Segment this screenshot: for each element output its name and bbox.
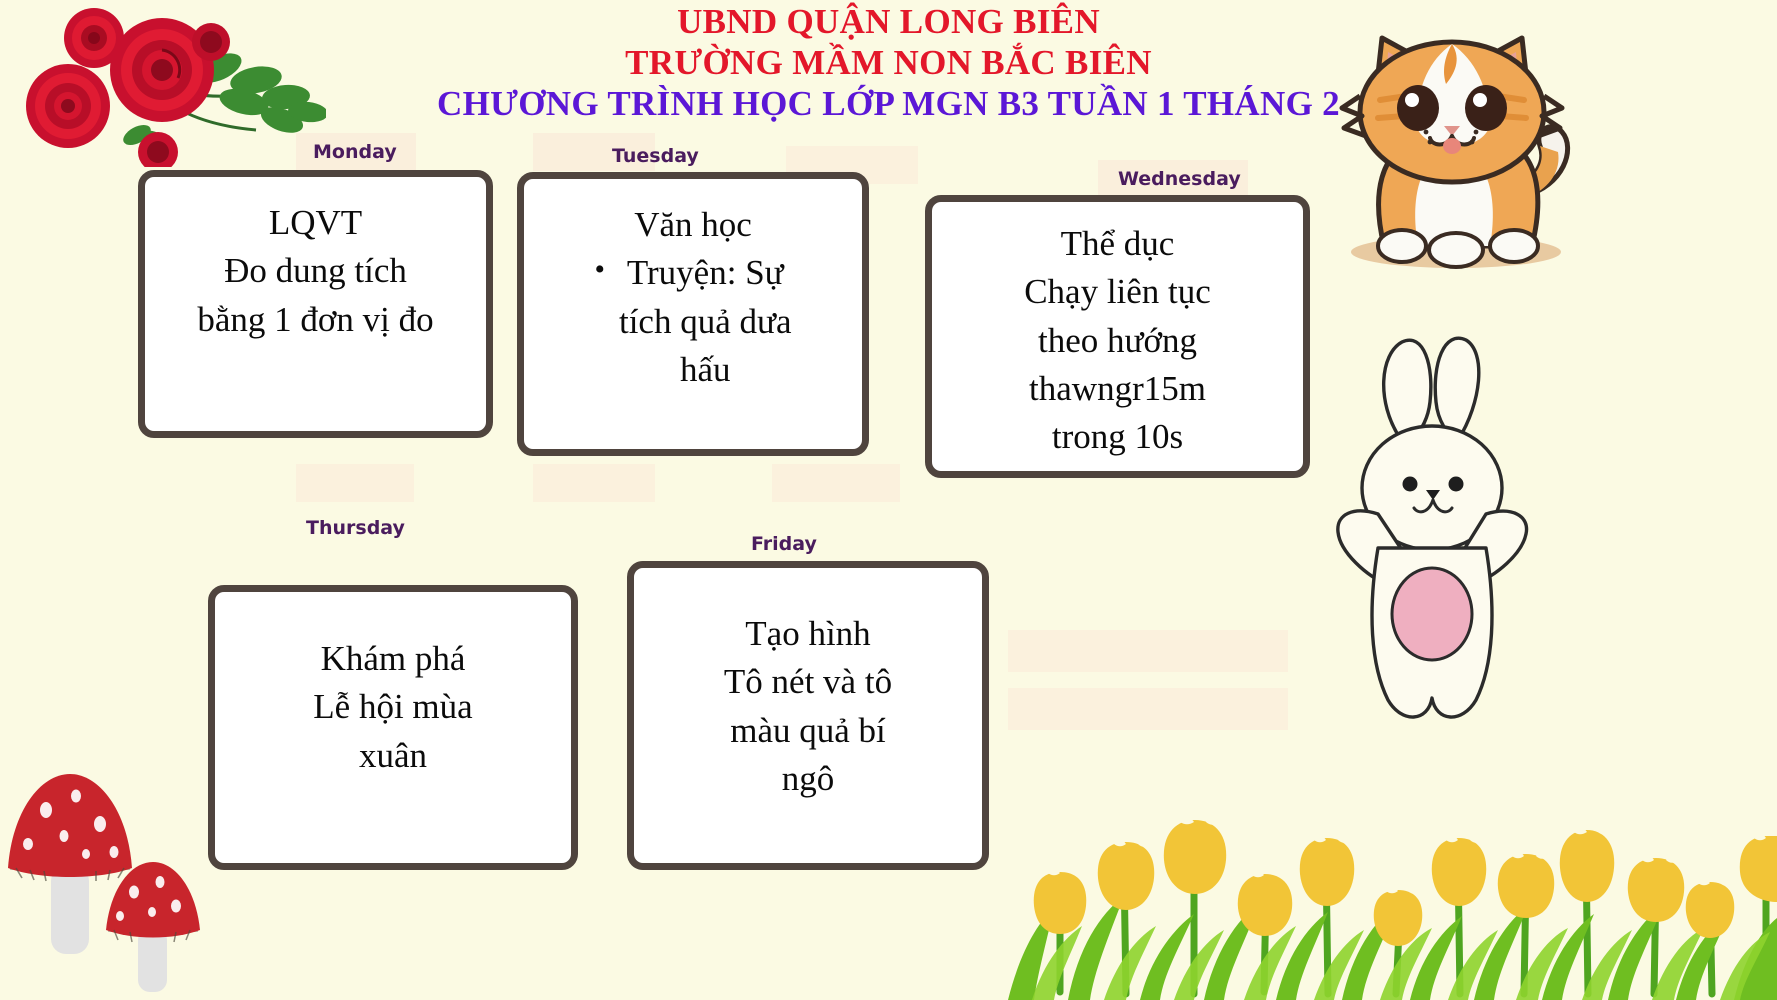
card-line: Truyện: Sự	[619, 249, 792, 297]
card-line: tích quả dưa	[619, 298, 792, 346]
card-line: màu quả bí	[634, 707, 982, 755]
card-text-wednesday: Thể dục Chạy liên tục theo hướng thawngr…	[932, 202, 1303, 461]
card-line: LQVT	[145, 199, 486, 247]
day-label-monday: Monday	[313, 141, 397, 163]
card-line: Thể dục	[932, 220, 1303, 268]
card-line: theo hướng	[932, 317, 1303, 365]
day-label-thursday: Thursday	[306, 517, 405, 539]
schedule-card-wednesday[interactable]: Thể dục Chạy liên tục theo hướng thawngr…	[925, 195, 1310, 478]
day-label-friday: Friday	[751, 533, 817, 555]
card-line: Khám phá	[215, 635, 571, 683]
placeholder-block	[772, 464, 900, 502]
header-line-district: UBND QUẬN LONG BIÊN	[0, 2, 1777, 43]
poster-header: UBND QUẬN LONG BIÊN TRƯỜNG MẦM NON BẮC B…	[0, 2, 1777, 125]
header-line-program: CHƯƠNG TRÌNH HỌC LỚP MGN B3 TUẦN 1 THÁNG…	[0, 84, 1777, 125]
day-label-tuesday: Tuesday	[612, 145, 699, 167]
poster-canvas: UBND QUẬN LONG BIÊN TRƯỜNG MẦM NON BẮC B…	[0, 0, 1777, 1000]
card-bullet-row: • Truyện: Sự tích quả dưa hấu	[524, 249, 862, 394]
card-line: bằng 1 đơn vị đo	[145, 296, 486, 344]
card-line: trong 10s	[932, 413, 1303, 461]
card-line: Lễ hội mùa	[215, 683, 571, 731]
card-line: Đo dung tích	[145, 247, 486, 295]
card-bullet-body: Truyện: Sự tích quả dưa hấu	[619, 249, 792, 394]
placeholder-block	[533, 464, 655, 502]
card-line: xuân	[215, 732, 571, 780]
schedule-card-monday[interactable]: LQVT Đo dung tích bằng 1 đơn vị đo	[138, 170, 493, 438]
card-line: thawngr15m	[932, 365, 1303, 413]
schedule-card-thursday[interactable]: Khám phá Lễ hội mùa xuân	[208, 585, 578, 870]
card-text-monday: LQVT Đo dung tích bằng 1 đơn vị đo	[145, 177, 486, 344]
header-line-school: TRƯỜNG MẦM NON BẮC BIÊN	[0, 43, 1777, 84]
placeholder-block	[1008, 630, 1288, 672]
yellow-tulip-grass-border-decoration	[1008, 672, 1777, 1000]
card-line: hấu	[619, 346, 792, 394]
card-line: Tô nét và tô	[634, 658, 982, 706]
red-mushrooms-decoration	[4, 758, 214, 1000]
card-text-friday: Tạo hình Tô nét và tô màu quả bí ngô	[634, 568, 982, 803]
schedule-card-friday[interactable]: Tạo hình Tô nét và tô màu quả bí ngô	[627, 561, 989, 870]
card-text-thursday: Khám phá Lễ hội mùa xuân	[215, 592, 571, 780]
card-text-tuesday: Văn học • Truyện: Sự tích quả dưa hấu	[524, 179, 862, 394]
card-line: ngô	[634, 755, 982, 803]
placeholder-block	[296, 464, 414, 502]
card-line: Văn học	[524, 201, 862, 249]
bullet-icon: •	[594, 249, 605, 290]
card-line: Chạy liên tục	[932, 268, 1303, 316]
day-label-wednesday: Wednesday	[1118, 168, 1241, 190]
card-line: Tạo hình	[634, 610, 982, 658]
schedule-card-tuesday[interactable]: Văn học • Truyện: Sự tích quả dưa hấu	[517, 172, 869, 456]
